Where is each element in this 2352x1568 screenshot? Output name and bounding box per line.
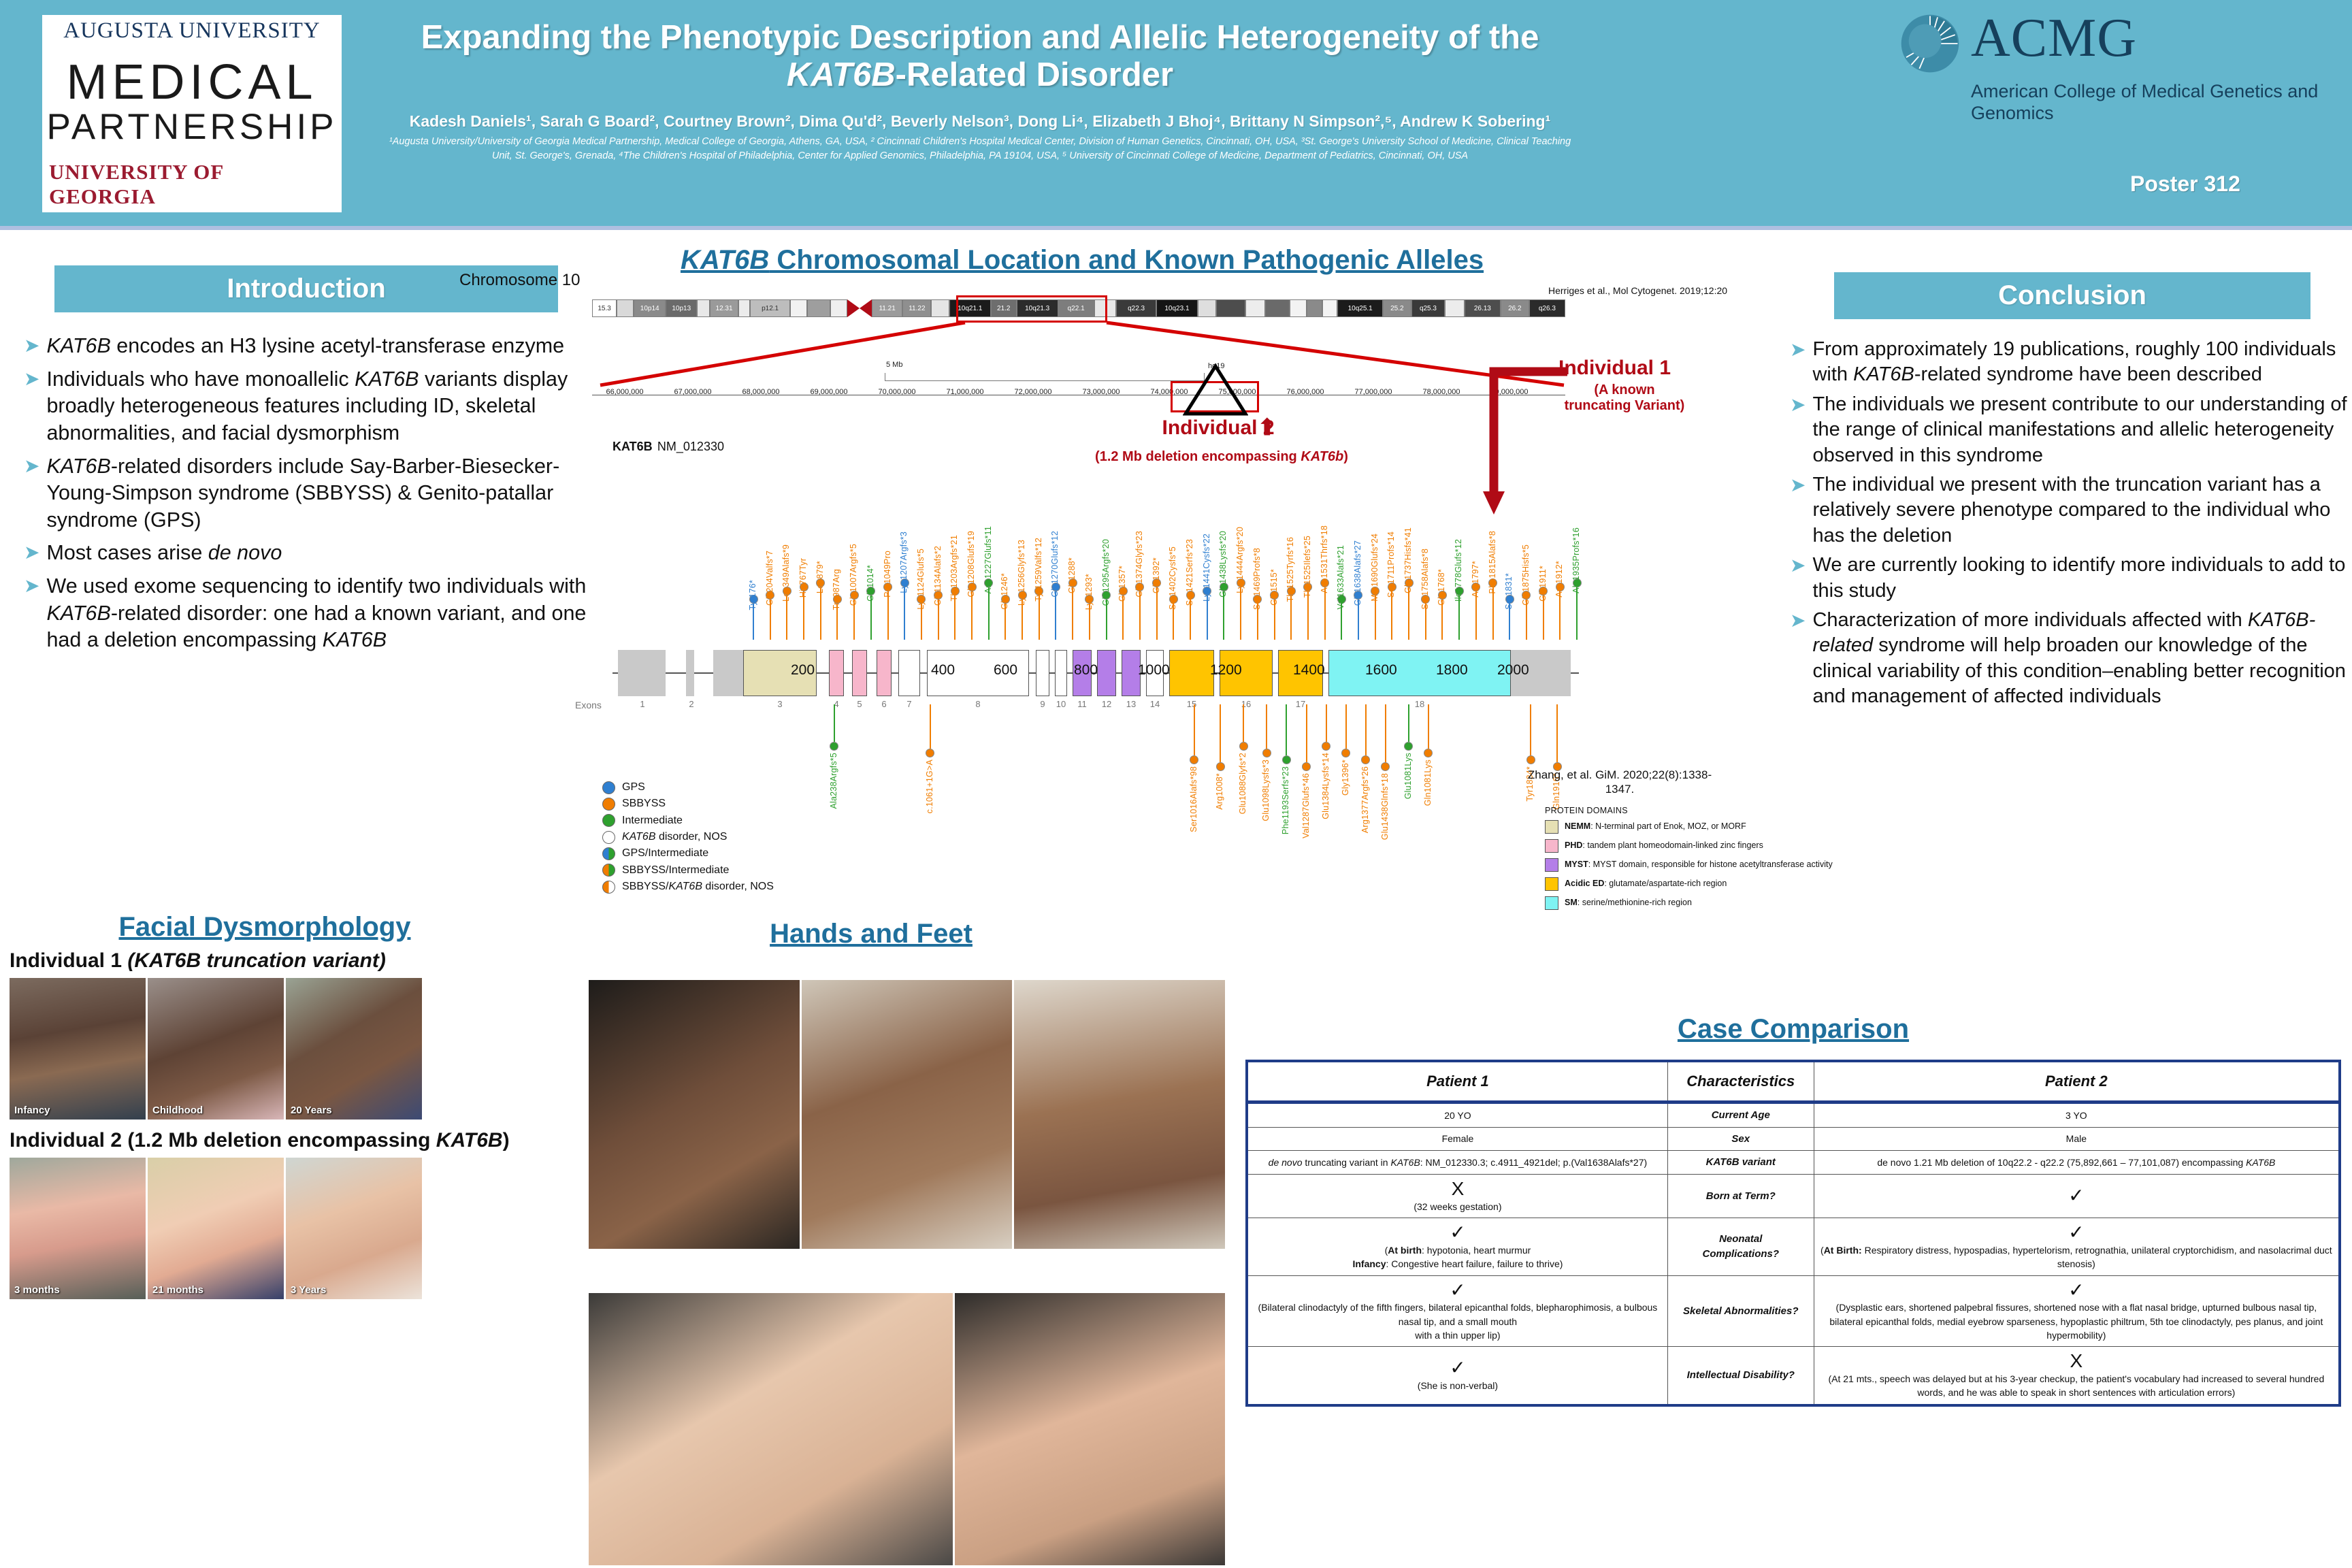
figure-title-rest: Chromosomal Location and Known Pathogeni… [769,245,1484,275]
variant-label: Arg1797* [1471,561,1480,598]
protein-domains-header: PROTEIN DOMAINS [1545,806,1833,815]
variant-label: Val1633Alafs*21 [1336,545,1345,610]
individual1-label: Individual 1 [1558,357,1671,380]
legend-item-gps: GPS [602,779,774,796]
scale-bar-5mb [885,373,1205,381]
variant-stem [1306,704,1307,762]
cell-patient2: 3 YO [1814,1102,2340,1127]
variant-label: Gln1875Hisfs*5 [1521,544,1531,606]
variant-dot [1361,755,1370,764]
variant-label: Gly1270Glufs*12 [1050,531,1060,598]
acmg-sunburst-icon [1899,12,1961,75]
variant-label: Arg1008* [1215,773,1224,810]
variant-label: Thr1525Ilefs*25 [1303,536,1312,598]
ideogram-band [1216,299,1246,317]
cell-characteristic: Skeletal Abnormalities? [1667,1275,1814,1347]
mark-check: ✓ [1254,1358,1662,1379]
exon-12-myst-domain [1097,650,1116,696]
facial-heading: Facial Dysmorphology [20,912,510,943]
table-row: ✓(She is non-verbal) Intellectual Disabi… [1247,1347,2340,1405]
table-row: 20 YO Current Age 3 YO [1247,1102,2340,1127]
table-header-row: Patient 1 Characteristics Patient 2 [1247,1061,2340,1102]
conclusion-bullet: ➤The individual we present with the trun… [1790,472,2352,549]
variant-label: Arg1377Argfs*26 [1360,766,1370,833]
mark-check: ✓ [1254,1222,1662,1243]
domain-acidic-ed: Acidic ED: glutamate/aspartate-rich regi… [1545,877,1833,891]
hands-photo-row-bottom [589,1293,1225,1565]
ideogram-band [1322,299,1338,317]
mark-check: ✓ [1820,1186,2333,1207]
aa-position: 800 [1074,662,1098,679]
exon-18-sm-domain [1328,650,1511,696]
cell-characteristic: Born at Term? [1667,1175,1814,1218]
variant-label: Ser1711Profs*14 [1386,532,1396,598]
poster-title-part2: -Related Disorder [896,56,1173,93]
scale-tick: 68,000,000 [742,388,779,396]
variant-label: Trp987Arg [832,569,841,610]
photo-childhood: Childhood [148,978,284,1120]
variant-stem [1556,704,1558,762]
variant-dot [1302,762,1311,771]
variant-label: His767Tyr [798,558,808,598]
variant-stem [1428,704,1429,749]
variant-label: Pro1049Pro [883,551,892,598]
ideogram-band [738,299,750,317]
variant-label: Ser1758Alafs*8 [1420,549,1430,610]
gps-dot-icon [602,781,615,794]
variant-dot [1404,742,1413,751]
gps-intermediate-dot-icon [602,847,615,860]
title-block: Expanding the Phenotypic Description and… [381,19,1579,163]
acidic-ed-swatch-icon [1545,877,1558,891]
individual2-photo-caption: Individual 2 (1.2 Mb deletion encompassi… [10,1129,581,1152]
photo-image [286,978,422,1120]
variant-stem [1243,704,1244,742]
ideogram-band: 10q25.1 [1337,299,1383,317]
gene-exon-track: 200 400 600 800 1000 1200 1400 1600 1800… [612,650,1579,696]
cell-detail: (She is non-verbal) [1418,1380,1498,1391]
photo-caption: 3 Years [291,1284,326,1296]
variant-label: Gly204Valfs*7 [765,551,774,606]
ideogram-band: 11.21 [872,299,903,317]
conclusion-bullet: ➤We are currently looking to identify mo… [1790,553,2352,604]
variant-dot [1216,762,1225,771]
ideogram-band: q26.3 [1529,299,1565,317]
intro-bullet-text: Individuals who have monoallelic KAT6B v… [46,366,589,447]
domain-text: MYST: MYST domain, responsible for histo… [1565,860,1833,869]
introduction-bullets: ➤KAT6B encodes an H3 lysine acetyl-trans… [24,333,589,654]
cell-patient1: ✓(She is non-verbal) [1247,1347,1667,1405]
mark-x: X [1254,1179,1662,1200]
intro-bullet-text: KAT6B encodes an H3 lysine acetyl-transf… [46,333,564,360]
bullet-arrow-icon: ➤ [24,573,39,654]
ideogram-highlight-box [956,295,1107,323]
photo-caption: 3 months [14,1284,60,1296]
introduction-section: Introduction ➤KAT6B encodes an H3 lysine… [24,265,589,660]
variant-label: Gly1134Alafs*2 [933,546,943,606]
genome-scale-axis: 5 Mb hg19 66,000,000 67,000,000 68,000,0… [592,388,1565,402]
variant-dot [1282,755,1291,764]
ideogram-band: 10p13 [666,299,697,317]
exon-7 [898,650,920,696]
variant-dot [1322,742,1330,751]
table-row: ✓(At birth: hypotonia, heart murmurInfan… [1247,1218,2340,1275]
conclusion-bullet: ➤Characterization of more individuals af… [1790,608,2352,710]
scale-tick: 72,000,000 [1014,388,1051,396]
variant-label: Arg1912* [1554,561,1564,598]
protein-domains-legend: PROTEIN DOMAINS NEMM: N-terminal part of… [1545,806,1833,915]
variant-stem [930,704,931,749]
variant-stem [834,704,835,742]
ideogram-band [617,299,634,317]
ideogram-band: 26.2 [1501,299,1529,317]
cell-patient2: de novo 1.21 Mb deletion of 10q22.2 - q2… [1814,1151,2340,1175]
table-row: de novo truncating variant in KAT6B: NM_… [1247,1151,2340,1175]
variant-label: Ser1016Alafs*98 [1189,766,1198,832]
variant-label: Glu1081Lys [1403,753,1413,799]
photo-image [148,1158,284,1299]
aa-position: 1800 [1436,662,1468,679]
variant-label: Lys1444Argfs*20 [1235,527,1245,593]
facial-dysmorphology-section: Facial Dysmorphology Individual 1 (KAT6B… [10,912,581,1299]
variant-stem [1286,704,1287,755]
variant-stem [1194,704,1195,755]
photo-hands-both [589,1293,953,1565]
scale-axis-line [592,395,1565,395]
variant-label: Gly1638Alafs*27 [1353,540,1362,606]
table-row: ✓(Bilateral clinodactyly of the fifth fi… [1247,1275,2340,1347]
conclusion-bullet-text: We are currently looking to identify mor… [1812,553,2352,604]
conclusion-heading: Conclusion [1834,272,2310,319]
intro-bullet-text: Most cases arise de novo [46,540,282,567]
intro-bullet-text: We used exome sequencing to identify two… [46,573,589,654]
aa-position: 600 [994,662,1017,679]
photo-foot-closeup [955,1293,1225,1565]
ideogram-band: 10p14 [634,299,666,317]
affiliation-list: ¹Augusta University/University of Georgi… [381,135,1579,163]
legend-label: GPS [622,779,645,796]
variant-dot [926,749,934,757]
variant-stems-top: Tyr176*Gly204Valfs*7Leu349Alafs*9His767T… [749,470,1586,660]
variant-label: Ala1935Profs*16 [1571,527,1581,593]
cell-characteristic: Sex [1667,1127,1814,1151]
cell-detail: (At 21 mts., speech was delayed but at h… [1828,1373,2324,1398]
individual2-triangle-icon [1183,363,1248,416]
ideogram-band: q22.3 [1116,299,1156,317]
variant-label: Tyr1259Valfs*12 [1034,538,1043,602]
variant-label: Glu1515* [1269,569,1279,606]
logo-line-2: MEDICAL [66,59,317,107]
variant-stem [1385,704,1386,762]
variant-stem [1220,704,1221,762]
hands-photo-row-top [589,980,1225,1249]
variant-label: Lys1124Glufs*5 [916,549,926,610]
intro-bullet: ➤We used exome sequencing to identify tw… [24,573,589,654]
variant-label: Thr1203Argfs*21 [949,535,959,602]
legend-item-intermediate: Intermediate [602,813,774,829]
case-comparison-section: Case Comparison Patient 1 Characteristic… [1245,1014,2341,1407]
legend-item-gps-intermediate: GPS/Intermediate [602,845,774,862]
variant-stem [1408,704,1409,742]
scale-tick: 71,000,000 [946,388,983,396]
domain-text: SM: serine/methionine-rich region [1565,898,1692,907]
scale-tick: 66,000,000 [606,388,643,396]
legend-label: SBBYSS/KAT6B disorder, NOS [622,879,774,895]
exon-10 [1055,650,1067,696]
intro-bullet-text: KAT6B-related disorders include Say-Barb… [46,453,589,534]
photo-caption: 21 months [152,1284,203,1296]
hands-and-feet-heading: Hands and Feet [681,919,1062,949]
photo-image [10,978,146,1120]
variant-label: Gln1911* [1538,566,1548,602]
variant-dot [830,742,838,751]
variant-label: Gln1007Argfs*5 [849,544,858,606]
poster-title: Expanding the Phenotypic Description and… [381,19,1579,95]
cell-characteristic: KAT6B variant [1667,1151,1814,1175]
mark-check: ✓ [1820,1280,2333,1301]
variant-dot [1424,749,1433,757]
case-comparison-heading: Case Comparison [1245,1014,2341,1045]
author-list: Kadesh Daniels¹, Sarah G Board², Courtne… [381,112,1579,131]
photo-caption: Infancy [14,1105,50,1116]
variant-label: Lys1441Cysfs*22 [1202,534,1211,602]
ideogram-band: 12.31 [710,299,738,317]
gene-name-label: KAT6B NM_012330 [612,434,724,455]
mark-check: ✓ [1820,1222,2333,1243]
cell-patient2: Male [1814,1127,2340,1151]
variant-stem [1345,704,1347,749]
poster-header: AUGUSTA UNIVERSITY MEDICAL PARTNERSHIP U… [0,0,2352,230]
variant-label: Ala238Argfs*5 [829,753,838,809]
variant-label: Gln1246* [1000,573,1009,610]
photo-infancy: Infancy [10,978,146,1120]
centromere-icon [847,299,872,317]
photo-hand-palm [802,980,1013,1249]
variant-label: Met1690Glufs*24 [1370,534,1379,602]
cell-patient1: ✓(Bilateral clinodactyly of the fifth fi… [1247,1275,1667,1347]
sm-swatch-icon [1545,896,1558,910]
individual1-photo-caption: Individual 1 (KAT6B truncation variant) [10,949,581,973]
ideogram-band [807,299,830,317]
photo-feet [1014,980,1225,1249]
ideogram-band [697,299,710,317]
mark-check: ✓ [1254,1280,1662,1301]
variant-stem [1326,704,1327,742]
aa-position: 2000 [1497,662,1529,679]
figure-title-gene: KAT6B [681,245,769,275]
aa-position: 1600 [1365,662,1397,679]
acmg-wordmark: ACMG [1971,12,2137,64]
variant-dot [1381,762,1390,771]
variant-label: Glu1384Lysfs*14 [1321,753,1330,819]
conclusion-bullets: ➤From approximately 19 publications, rou… [1790,337,2352,710]
logo-line-3: PARTNERSHIP [46,109,337,145]
variant-stem [1530,704,1531,755]
cell-patient1: X(32 weeks gestation) [1247,1175,1667,1218]
acmg-logo: ACMG American College of Medical Genetic… [1899,12,2321,176]
bullet-arrow-icon: ➤ [1790,608,1806,710]
variant-label: Phe1815Alafs*8 [1488,531,1497,593]
cell-patient1: Female [1247,1127,1667,1151]
exon-6-phd-domain [877,650,892,696]
legend-item-kat6b-nos: KAT6B disorder, NOS [602,829,774,845]
exon-4-phd-domain [829,650,844,696]
ideogram-band: 25.2 [1383,299,1411,317]
ideogram-band: 26.13 [1465,299,1501,317]
figure-title: KAT6B Chromosomal Location and Known Pat… [633,245,1531,276]
photo-caption: 20 Years [291,1105,332,1116]
variant-label: Glu1098Lysfs*3 [1261,759,1271,821]
sbbyss-intermediate-dot-icon [602,864,615,877]
scale-tick: 73,000,000 [1082,388,1120,396]
variant-label: Glu1438Glnfs*18 [1380,773,1390,840]
variant-label: Thr1525Tyrfs*16 [1286,537,1295,602]
photo-hand-dorsal [589,980,800,1249]
nemm-swatch-icon [1545,820,1558,834]
aa-position: 400 [931,662,955,679]
exon-15-acidic-ed-domain [1169,650,1214,696]
variant-label: Ser1831* [1504,573,1514,610]
column-header-patient1: Patient 1 [1247,1061,1667,1102]
acmg-subtitle: American College of Medical Genetics and… [1971,80,2321,125]
variant-label: Glu1088Glyfs*2 [1238,753,1247,814]
ideogram-band [1265,299,1290,317]
bullet-arrow-icon: ➤ [1790,392,1806,468]
ideogram-band [830,299,847,317]
scale-tick: 78,000,000 [1422,388,1460,396]
cell-characteristic: Current Age [1667,1102,1814,1127]
chromosome-label: Chromosome 10 [459,271,580,290]
domain-text: PHD: tandem plant homeodomain-linked zin… [1565,841,1763,850]
scale-tick: 67,000,000 [674,388,711,396]
variant-dot [1239,742,1248,751]
photo-20-years: 20 Years [286,978,422,1120]
ideogram-band: p12.1 [750,299,790,317]
legend-item-sbbyss-nos: SBBYSS/KAT6B disorder, NOS [602,879,774,895]
legend-item-sbbyss: SBBYSS [602,796,774,812]
domain-text: NEMM: N-terminal part of Enok, MOZ, or M… [1565,822,1746,831]
poster-title-gene: KAT6B [787,56,896,93]
augusta-university-logo: AUGUSTA UNIVERSITY MEDICAL PARTNERSHIP U… [42,15,342,212]
individual1-photo-row: Infancy Childhood 20 Years [10,978,581,1120]
ideogram-band [790,299,807,317]
ideogram-band: q25.3 [1411,299,1445,317]
cell-characteristic: NeonatalComplications? [1667,1218,1814,1275]
cell-patient2: X(At 21 mts., speech was delayed but at … [1814,1347,2340,1405]
variant-dot [1341,749,1350,757]
sbbyss-dot-icon [602,798,615,811]
variant-label: Asn1531Thrfs*18 [1320,525,1329,593]
variant-dot [1526,755,1535,764]
cell-patient1: de novo truncating variant in KAT6B: NM_… [1247,1151,1667,1175]
variant-label: Gly1208Glufs*19 [966,531,976,598]
bullet-arrow-icon: ➤ [24,540,39,567]
variant-label: Gln1737Hisfs*41 [1403,527,1413,593]
conclusion-bullet: ➤From approximately 19 publications, rou… [1790,337,2352,388]
conclusion-bullet-text: Characterization of more individuals aff… [1812,608,2352,710]
legend-label: KAT6B disorder, NOS [622,829,727,845]
variant-label: Glu1438Lysfs*20 [1218,531,1228,598]
cell-patient1: ✓(At birth: hypotonia, heart murmurInfan… [1247,1218,1667,1275]
bullet-arrow-icon: ➤ [1790,472,1806,549]
domain-phd: PHD: tandem plant homeodomain-linked zin… [1545,839,1833,853]
variant-label: Lys1207Argfs*3 [899,532,909,593]
individual2-label: Individual 2 [1106,416,1330,440]
ideogram-band [1198,299,1216,317]
variant-label: Gln1081Lys [1423,759,1433,806]
photo-image [148,978,284,1120]
column-header-patient2: Patient 2 [1814,1061,2340,1102]
logo-line-1: AUGUSTA UNIVERSITY [63,18,320,44]
photo-image [286,1158,422,1299]
exons-axis-label: Exons [575,700,602,710]
kat6b-nos-dot-icon [602,831,615,844]
intermediate-dot-icon [602,814,615,827]
table-row: X(32 weeks gestation) Born at Term? ✓ [1247,1175,2340,1218]
herriges-reference: Herriges et al., Mol Cytogenet. 2019;12:… [1548,284,1727,297]
bullet-arrow-icon: ➤ [1790,337,1806,388]
sbbyss-nos-dot-icon [602,881,615,894]
cell-patient2: ✓ [1814,1175,2340,1218]
variant-label: Ser1421Serfs*23 [1185,539,1194,606]
domain-sm: SM: serine/methionine-rich region [1545,896,1833,910]
conclusion-section: Conclusion ➤From approximately 19 public… [1790,272,2352,714]
scale-bar-label: 5 Mb [886,361,902,369]
exon-2 [686,650,694,696]
ideogram-band: 10q23.1 [1156,299,1198,317]
exon-5-phd-domain [852,650,867,696]
scale-tick: 77,000,000 [1354,388,1392,396]
variant-label: Tyr176* [748,580,757,610]
bullet-arrow-icon: ➤ [24,333,39,360]
poster-number: Poster 312 [2130,171,2240,197]
aa-position: 1000 [1138,662,1170,679]
mark-x: X [1820,1351,2333,1372]
variant-label: Lys1256Glyfs*13 [1017,540,1026,606]
variant-label: Gly1392* [1151,557,1161,593]
photo-3-months: 3 months [10,1158,146,1299]
variant-dot [1262,749,1271,757]
ideogram-band: 11.22 [902,299,931,317]
variant-label: Asp1227Glufs*11 [983,526,993,593]
intro-bullet: ➤Individuals who have monoallelic KAT6B … [24,366,589,447]
individual2-photo-row: 3 months 21 months 3 Years [10,1158,581,1299]
exon-9 [1036,650,1049,696]
scale-tick: 69,000,000 [810,388,847,396]
conclusion-bullet: ➤The individuals we present contribute t… [1790,392,2352,468]
aa-position: 200 [791,662,815,679]
cell-detail: (32 weeks gestation) [1414,1201,1501,1212]
variant-label: Lys1293* [1084,574,1094,610]
individual2-sublabel: (1.2 Mb deletion encompassing KAT6b) [1051,449,1392,465]
variant-label: Ser1469Profs*8 [1252,548,1262,610]
conclusion-bullet-text: From approximately 19 publications, roug… [1812,337,2352,388]
case-comparison-table: Patient 1 Characteristics Patient 2 20 Y… [1245,1060,2341,1407]
legend-label: SBBYSS/Intermediate [622,862,729,879]
intro-bullet: ➤Most cases arise de novo [24,540,589,567]
intro-bullet: ➤KAT6B encodes an H3 lysine acetyl-trans… [24,333,589,360]
bullet-arrow-icon: ➤ [24,366,39,447]
variant-label: Gly1288* [1067,557,1077,593]
variant-label: Gly1396* [1341,759,1350,796]
variant-label: Phe1193Serfs*23 [1281,766,1290,834]
variant-class-legend: GPS SBBYSS Intermediate KAT6B disorder, … [602,779,774,895]
phd-swatch-icon [1545,839,1558,853]
photo-image [10,1158,146,1299]
domain-myst: MYST: MYST domain, responsible for histo… [1545,858,1833,872]
myst-swatch-icon [1545,858,1558,872]
cell-patient1: 20 YO [1247,1102,1667,1127]
